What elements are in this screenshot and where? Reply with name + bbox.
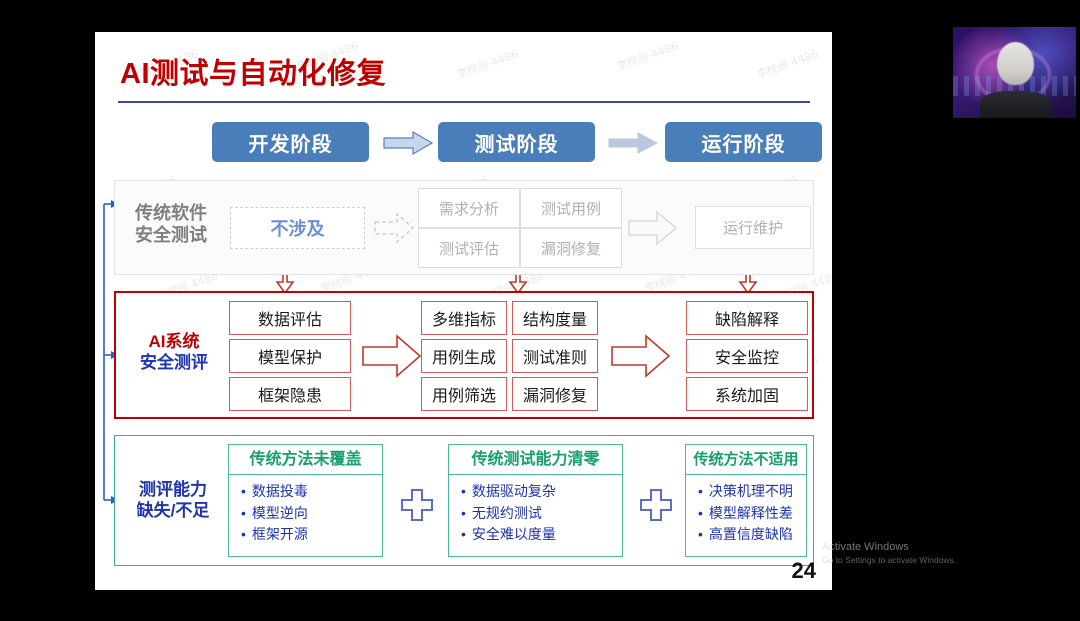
capability-gap-label: 测评能力 缺失/不足	[121, 480, 225, 521]
capability-card-3-list: 决策机理不明 模型解释性差 高置信度缺陷	[686, 475, 806, 546]
ai-test-item-5[interactable]: 用例筛选	[421, 377, 507, 411]
traditional-runtime-box: 运行维护	[695, 206, 811, 249]
activate-windows-watermark: Activate Windows Go to Settings to activ…	[822, 541, 956, 566]
gray-arrow-icon	[627, 209, 679, 247]
capability-card-1-list: 数据投毒 模型逆向 框架开源	[229, 475, 382, 546]
ai-test-item-1[interactable]: 多维指标	[421, 301, 507, 335]
stage-box-test[interactable]: 测试阶段	[438, 122, 595, 162]
capability-card-1: 传统方法未覆盖 数据投毒 模型逆向 框架开源	[228, 444, 383, 557]
ai-dev-item-1[interactable]: 数据评估	[229, 301, 351, 335]
ai-test-item-4[interactable]: 测试准则	[512, 339, 598, 373]
activate-windows-title: Activate Windows	[822, 541, 956, 554]
capability-gap-panel: 测评能力 缺失/不足 传统方法未覆盖 数据投毒 模型逆向 框架开源 传统测试能力…	[114, 435, 814, 566]
list-item: 模型逆向	[241, 503, 382, 525]
grid-cell-testcase: 测试用例	[520, 188, 622, 228]
list-item: 决策机理不明	[698, 481, 806, 503]
traditional-test-grid: 需求分析 测试用例 测试评估 漏洞修复	[418, 188, 623, 268]
red-arrow-icon-2	[610, 333, 672, 379]
ai-run-item-3[interactable]: 系统加固	[686, 377, 808, 411]
stage-arrow-1-icon	[382, 130, 434, 156]
grid-cell-requirement: 需求分析	[418, 188, 520, 228]
ai-evaluation-panel: AI系统 安全测评 数据评估 模型保护 框架隐患 多维指标 结构度量 用例生成 …	[114, 291, 814, 419]
list-item: 无规约测试	[461, 503, 622, 525]
ai-dev-item-2[interactable]: 模型保护	[229, 339, 351, 373]
presenter-video-overlay[interactable]	[953, 27, 1076, 118]
dashed-arrow-icon	[373, 211, 415, 245]
presentation-slide: 李桃丽 4486 李桃丽 4486 李桃丽 4486 李桃丽 4486 李桃丽 …	[95, 32, 832, 590]
traditional-testing-label: 传统软件 安全测试	[123, 203, 219, 247]
plus-connector-icon-1	[400, 488, 434, 522]
screen: 李桃丽 4486 李桃丽 4486 李桃丽 4486 李桃丽 4486 李桃丽 …	[0, 0, 1080, 621]
ai-run-item-1[interactable]: 缺陷解释	[686, 301, 808, 335]
ai-evaluation-label: AI系统 安全测评	[122, 332, 226, 373]
capability-card-1-header: 传统方法未覆盖	[229, 445, 382, 475]
ai-test-item-3[interactable]: 用例生成	[421, 339, 507, 373]
list-item: 框架开源	[241, 524, 382, 546]
traditional-testing-panel: 传统软件 安全测试 不涉及 需求分析 测试用例 测试评估 漏洞修复 运行维护	[114, 180, 814, 275]
ai-test-item-2[interactable]: 结构度量	[512, 301, 598, 335]
capability-card-2-list: 数据驱动复杂 无规约测试 安全难以度量	[449, 475, 622, 546]
stage-arrow-2-icon	[607, 130, 659, 156]
activate-windows-subtitle: Go to Settings to activate Windows.	[822, 554, 956, 566]
title-divider	[118, 101, 810, 103]
stage-box-runtime[interactable]: 运行阶段	[665, 122, 822, 162]
list-item: 模型解释性差	[698, 503, 806, 525]
plus-connector-icon-2	[639, 488, 673, 522]
capability-card-3: 传统方法不适用 决策机理不明 模型解释性差 高置信度缺陷	[685, 444, 807, 557]
red-arrow-icon-1	[361, 333, 423, 379]
slide-page-number: 24	[792, 558, 816, 584]
stage-header-row: 开发阶段 测试阶段 运行阶段	[95, 122, 832, 170]
presenter-body	[980, 91, 1051, 118]
list-item: 安全难以度量	[461, 524, 622, 546]
capability-card-2-header: 传统测试能力清零	[449, 445, 622, 475]
page-title: AI测试与自动化修复	[120, 50, 386, 92]
list-item: 数据投毒	[241, 481, 382, 503]
presenter-head	[997, 42, 1034, 86]
capability-card-3-header: 传统方法不适用	[686, 445, 806, 475]
not-involved-box: 不涉及	[230, 207, 365, 249]
grid-cell-vulnfix: 漏洞修复	[520, 228, 622, 268]
ai-run-item-2[interactable]: 安全监控	[686, 339, 808, 373]
capability-card-2: 传统测试能力清零 数据驱动复杂 无规约测试 安全难以度量	[448, 444, 623, 557]
grid-cell-evaluation: 测试评估	[418, 228, 520, 268]
list-item: 高置信度缺陷	[698, 524, 806, 546]
ai-test-item-6[interactable]: 漏洞修复	[512, 377, 598, 411]
list-item: 数据驱动复杂	[461, 481, 622, 503]
ai-dev-item-3[interactable]: 框架隐患	[229, 377, 351, 411]
stage-box-develop[interactable]: 开发阶段	[212, 122, 369, 162]
